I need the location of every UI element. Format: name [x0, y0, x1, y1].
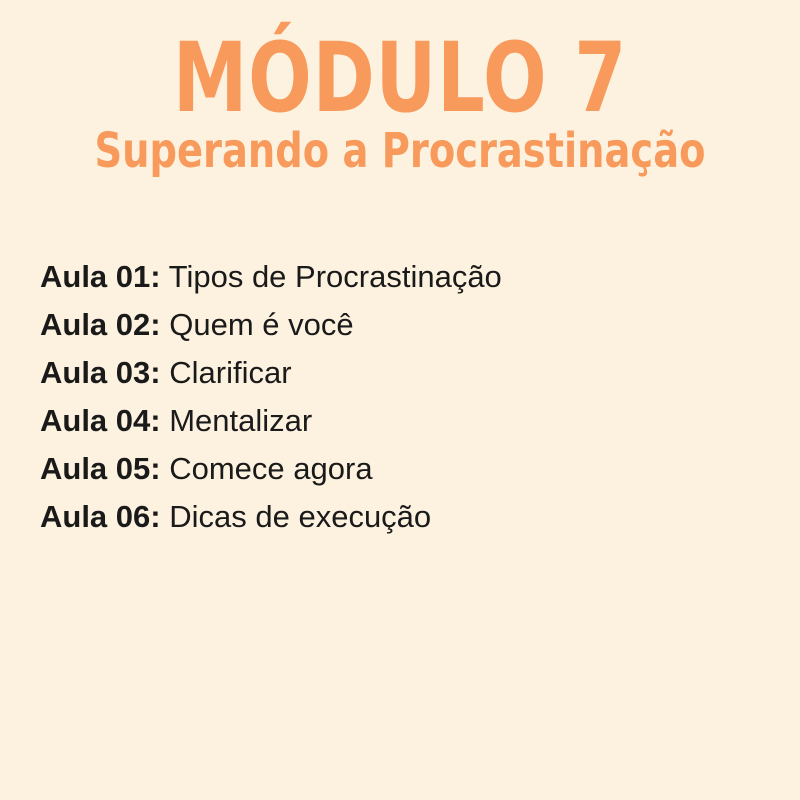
- list-item: Aula 03: Clarificar: [40, 349, 760, 397]
- lesson-description: Tipos de Procrastinação: [169, 259, 502, 294]
- list-item: Aula 05: Comece agora: [40, 445, 760, 493]
- page-subtitle: Superando a Procrastinação: [80, 125, 720, 177]
- lesson-description: Quem é você: [169, 307, 353, 342]
- lesson-label: Aula 05:: [40, 451, 161, 486]
- slide-canvas: MÓDULO 7 Superando a Procrastinação Aula…: [0, 0, 800, 800]
- lesson-description: Clarificar: [169, 355, 291, 390]
- lesson-label: Aula 03:: [40, 355, 161, 390]
- page-title: MÓDULO 7: [88, 30, 712, 126]
- list-item: Aula 01: Tipos de Procrastinação: [40, 253, 760, 301]
- list-item: Aula 04: Mentalizar: [40, 397, 760, 445]
- lesson-label: Aula 02:: [40, 307, 161, 342]
- lesson-label: Aula 04:: [40, 403, 161, 438]
- lesson-label: Aula 06:: [40, 499, 161, 534]
- lesson-label: Aula 01:: [40, 259, 161, 294]
- list-item: Aula 02: Quem é você: [40, 301, 760, 349]
- lesson-description: Comece agora: [169, 451, 372, 486]
- lesson-list: Aula 01: Tipos de Procrastinação Aula 02…: [40, 253, 760, 541]
- lesson-description: Dicas de execução: [169, 499, 431, 534]
- lesson-description: Mentalizar: [169, 403, 312, 438]
- list-item: Aula 06: Dicas de execução: [40, 493, 760, 541]
